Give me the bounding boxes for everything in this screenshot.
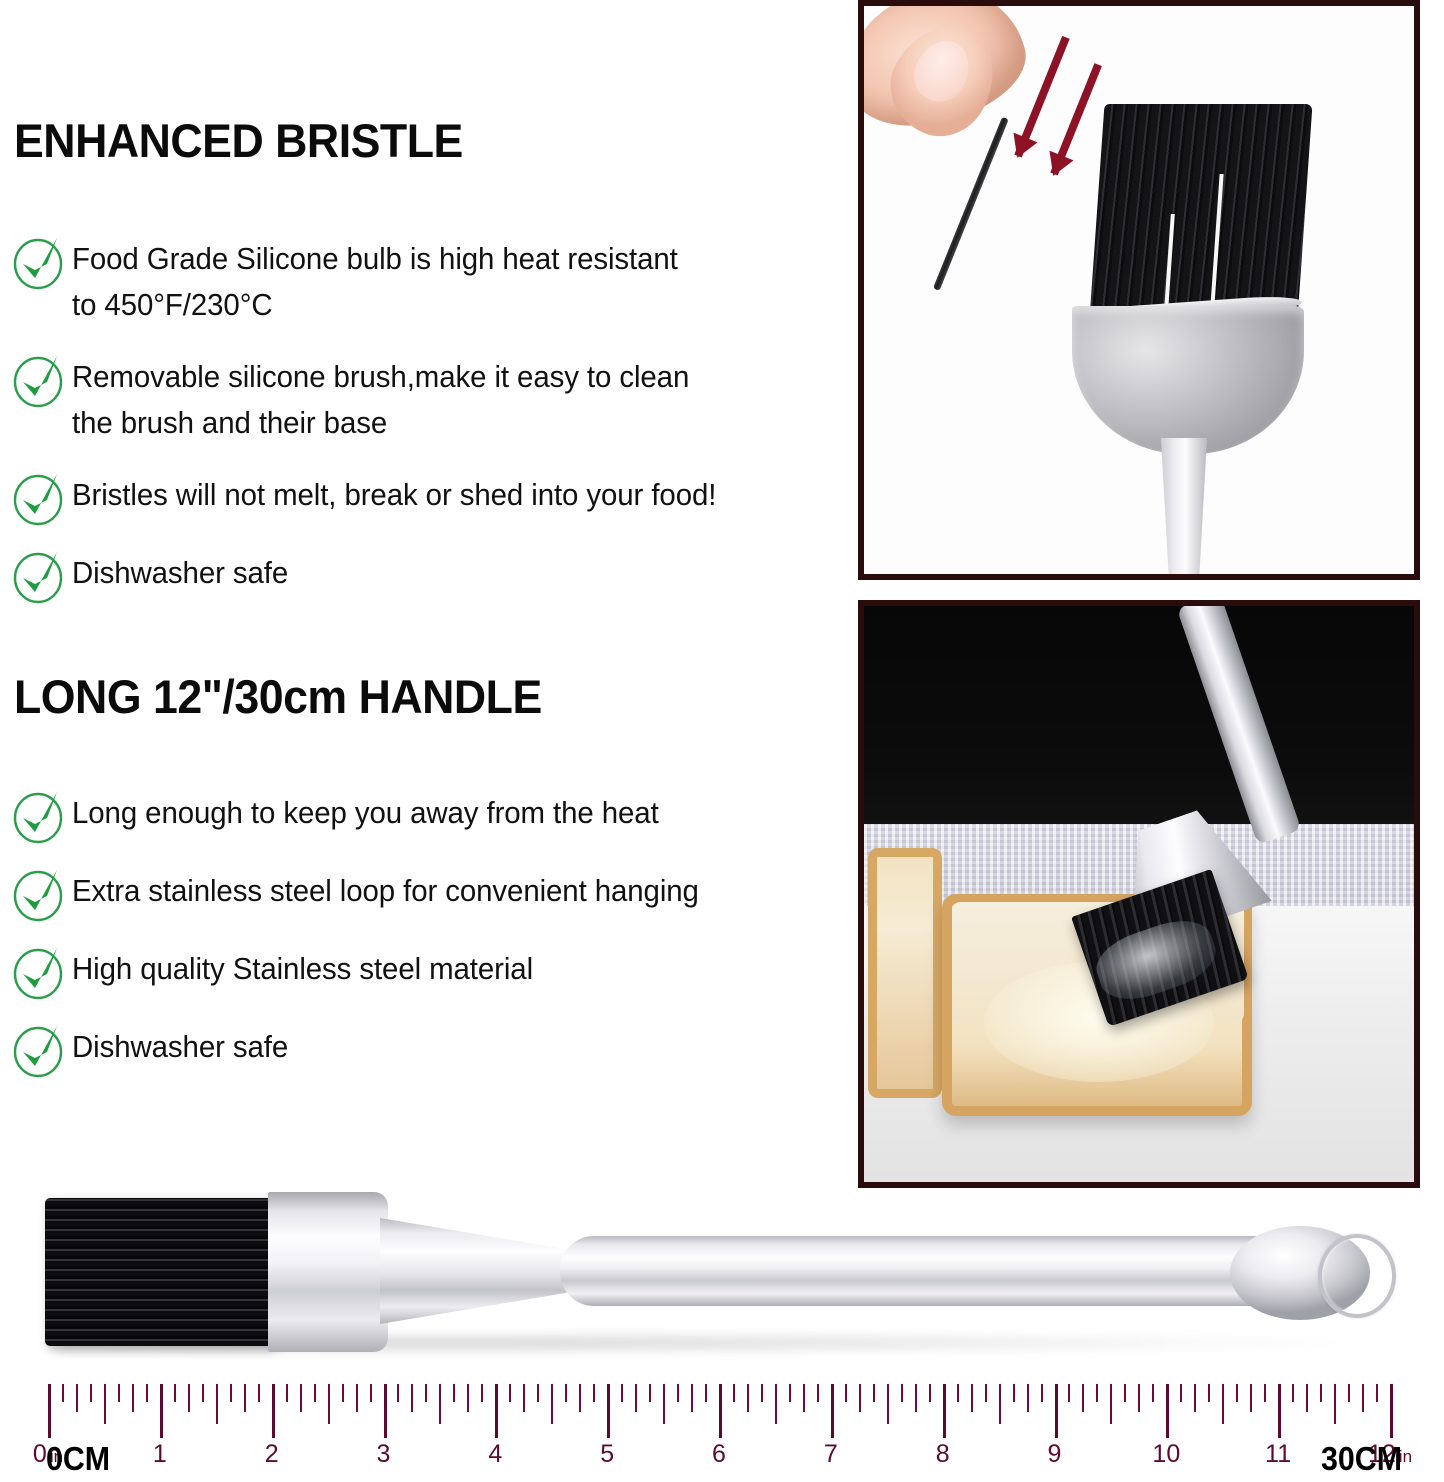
ruler-tick [356, 1384, 358, 1412]
photo-content [864, 606, 1414, 1182]
ruler-tick [817, 1384, 819, 1402]
photo-content [864, 6, 1414, 574]
ruler-inch-label: 4 [488, 1440, 502, 1469]
ruler-tick [202, 1384, 204, 1402]
hanging-loop-icon [1318, 1234, 1396, 1318]
ruler-tick [677, 1384, 679, 1402]
ruler-tick [300, 1384, 302, 1412]
ruler-tick [593, 1384, 595, 1402]
list-item-label: Dishwasher safe [72, 550, 829, 596]
ruler-tick [943, 1384, 946, 1438]
ruler-tick [705, 1384, 707, 1402]
ruler-tick [845, 1384, 847, 1402]
ruler-tick [439, 1384, 441, 1424]
ruler-tick [999, 1384, 1001, 1424]
ruler-tick [1264, 1384, 1266, 1402]
check-circle-icon [12, 352, 64, 408]
check-circle-icon [12, 788, 64, 844]
feature-list-long-handle: Long enough to keep you away from the he… [0, 790, 856, 1102]
ruler-tick [1208, 1384, 1210, 1402]
ruler-tick [118, 1384, 120, 1402]
list-item: Removable silicone brush,make it easy to… [0, 354, 856, 446]
ruler-tick [1041, 1384, 1043, 1402]
ruler-tick [523, 1384, 525, 1412]
ruler-ticks [48, 1384, 1390, 1440]
ruler-tick [1013, 1384, 1015, 1402]
list-item-label: Extra stainless steel loop for convenien… [72, 868, 829, 914]
ruler-tick [1348, 1384, 1350, 1402]
ruler-tick [1250, 1384, 1252, 1412]
list-item: High quality Stainless steel material [0, 946, 856, 998]
ruler-tick [314, 1384, 316, 1402]
ruler-tick [761, 1384, 763, 1402]
ruler-tick [537, 1384, 539, 1402]
list-item: Dishwasher safe [0, 1024, 856, 1076]
ruler-tick [370, 1384, 372, 1402]
handle-neck [380, 1218, 570, 1324]
photo-dark-background [864, 606, 1414, 836]
check-circle-icon [12, 548, 64, 604]
ruler-tick [649, 1384, 651, 1402]
ruler-tick [1292, 1384, 1294, 1402]
ruler-cm-end-label: 30CM [1321, 1440, 1402, 1478]
ruler-tick [901, 1384, 903, 1402]
ruler-tick [733, 1384, 735, 1402]
ruler-tick [1180, 1384, 1182, 1402]
ruler-tick [48, 1384, 51, 1438]
list-item: Bristles will not melt, break or shed in… [0, 472, 856, 524]
check-circle-icon [12, 234, 64, 290]
ruler-tick [244, 1384, 246, 1412]
ruler-tick [775, 1384, 777, 1424]
ruler-tick [1110, 1384, 1112, 1424]
photo-brushing-bread [858, 600, 1420, 1188]
ruler-tick [1124, 1384, 1126, 1402]
ruler-tick [551, 1384, 553, 1424]
ruler-tick [663, 1384, 665, 1424]
brush-ferrule [268, 1192, 388, 1352]
check-circle-icon [12, 944, 64, 1000]
ruler-tick [411, 1384, 413, 1412]
ruler-tick [481, 1384, 483, 1402]
ruler-tick [915, 1384, 917, 1412]
ruler-tick [929, 1384, 931, 1402]
ruler-tick [1306, 1384, 1308, 1412]
ruler-inch-label: 5 [600, 1440, 614, 1469]
check-circle-icon [12, 1022, 64, 1078]
ruler-tick [579, 1384, 581, 1412]
list-item: Extra stainless steel loop for convenien… [0, 868, 856, 920]
ruler-tick [1362, 1384, 1364, 1412]
ruler-tick [1138, 1384, 1140, 1412]
ruler-tick [384, 1384, 387, 1438]
feature-text-column: ENHANCED BRISTLE Food Grade Silicone bul… [0, 0, 856, 1180]
ruler-tick [174, 1384, 176, 1402]
silicone-bristles [45, 1198, 273, 1346]
ruler-inch-label: 9 [1048, 1440, 1062, 1469]
ruler-tick [719, 1384, 722, 1438]
ruler-inch-label: 11 [1265, 1440, 1291, 1469]
ruler-tick [188, 1384, 190, 1412]
check-circle-icon [12, 470, 64, 526]
ruler-tick [1236, 1384, 1238, 1402]
ruler-tick [328, 1384, 330, 1424]
ruler-tick [985, 1384, 987, 1402]
ruler-tick [1082, 1384, 1084, 1412]
ruler-tick [62, 1384, 64, 1402]
ruler-tick [971, 1384, 973, 1412]
section-heading-enhanced-bristle: ENHANCED BRISTLE [14, 116, 463, 165]
ruler-tick [1194, 1384, 1196, 1412]
list-item: Dishwasher safe [0, 550, 856, 602]
ruler-tick [1055, 1384, 1058, 1438]
photo-brush-bristle-pull [858, 0, 1420, 580]
ruler-tick [1096, 1384, 1098, 1402]
stainless-handle [560, 1236, 1320, 1306]
product-photo-basting-brush [0, 1182, 1444, 1357]
ruler-tick [1320, 1384, 1322, 1402]
list-item-label: Dishwasher safe [72, 1024, 829, 1070]
ruler-tick [621, 1384, 623, 1402]
ruler-tick [635, 1384, 637, 1412]
list-item-label: Food Grade Silicone bulb is high heat re… [72, 236, 829, 328]
ruler-tick [887, 1384, 889, 1424]
list-item-label: Long enough to keep you away from the he… [72, 790, 829, 836]
ruler-tick [509, 1384, 511, 1402]
ruler-inch-label: 7 [824, 1440, 838, 1469]
ruler-tick [831, 1384, 834, 1438]
ruler-tick [76, 1384, 78, 1412]
ruler-inch-label: 3 [377, 1440, 391, 1469]
ruler-inch-label: 8 [936, 1440, 950, 1469]
ruler-tick [230, 1384, 232, 1402]
ruler-tick [1222, 1384, 1224, 1424]
ruler-inch-label: 6 [712, 1440, 726, 1469]
ruler-tick [565, 1384, 567, 1402]
ruler-tick [397, 1384, 399, 1402]
ruler-inch-label: 1 [153, 1440, 167, 1469]
ruler-tick [258, 1384, 260, 1402]
ruler-tick [873, 1384, 875, 1402]
ruler-tick [272, 1384, 275, 1438]
ruler-tick [90, 1384, 92, 1402]
ruler-tick [132, 1384, 134, 1412]
ruler-tick [747, 1384, 749, 1412]
ruler-tick [467, 1384, 469, 1412]
ruler-tick [1376, 1384, 1378, 1402]
list-item: Long enough to keep you away from the he… [0, 790, 856, 842]
list-item-label: Bristles will not melt, break or shed in… [72, 472, 829, 518]
ruler-tick [160, 1384, 163, 1438]
ruler-tick [286, 1384, 288, 1402]
ruler-tick [495, 1384, 498, 1438]
list-item-label: High quality Stainless steel material [72, 946, 829, 992]
check-circle-icon [12, 866, 64, 922]
ruler-tick [1390, 1384, 1393, 1438]
ruler-tick [146, 1384, 148, 1402]
ruler-tick [1166, 1384, 1169, 1438]
feature-list-enhanced-bristle: Food Grade Silicone bulb is high heat re… [0, 236, 856, 628]
list-item: Food Grade Silicone bulb is high heat re… [0, 236, 856, 328]
ruler-tick [803, 1384, 805, 1412]
ruler-tick [859, 1384, 861, 1412]
list-item-label: Removable silicone brush,make it easy to… [72, 354, 829, 446]
ruler-tick [607, 1384, 610, 1438]
ruler-tick [104, 1384, 106, 1424]
ruler-tick [453, 1384, 455, 1402]
bread-slice-secondary [868, 848, 942, 1098]
ruler-tick [957, 1384, 959, 1402]
ruler-tick [1027, 1384, 1029, 1412]
ruler-tick [1068, 1384, 1070, 1402]
ruler-tick [216, 1384, 218, 1424]
ruler-tick [1334, 1384, 1336, 1424]
ruler-tick [789, 1384, 791, 1402]
ruler-scale: 0in123456789101112in [0, 1378, 1444, 1482]
ruler-tick [425, 1384, 427, 1402]
ruler-tick [1278, 1384, 1281, 1438]
section-heading-long-handle: LONG 12"/30cm HANDLE [14, 672, 542, 721]
ruler-tick [342, 1384, 344, 1402]
ruler-inch-label: 2 [265, 1440, 279, 1469]
product-infographic: ENHANCED BRISTLE Food Grade Silicone bul… [0, 0, 1444, 1482]
ruler-tick [1152, 1384, 1154, 1402]
ruler-tick [691, 1384, 693, 1412]
ruler-cm-start-label: 0CM [46, 1440, 110, 1478]
ruler-inch-label: 10 [1152, 1440, 1180, 1469]
